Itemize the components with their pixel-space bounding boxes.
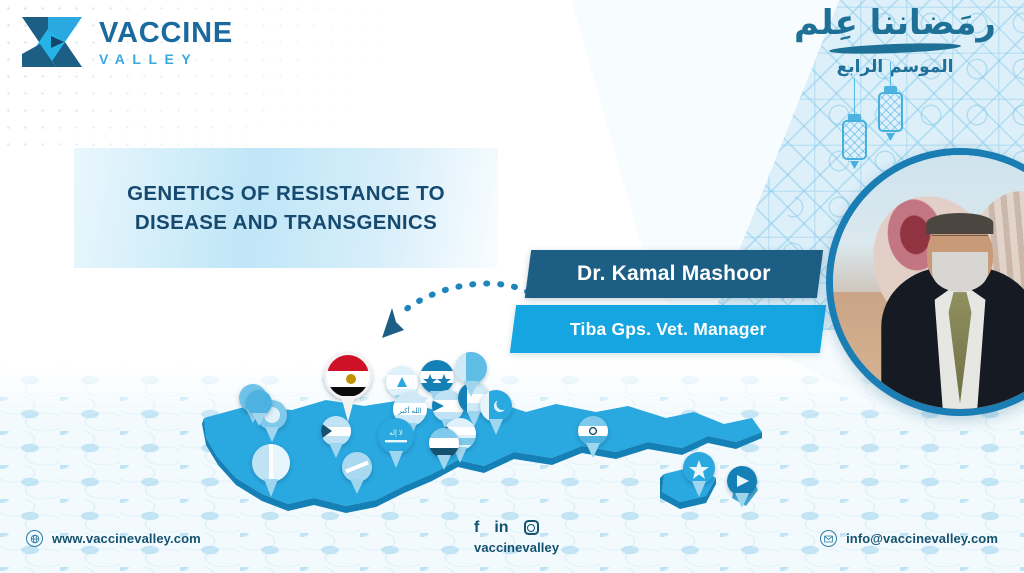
brush-underline xyxy=(829,41,961,55)
social-handle: vaccinevalley xyxy=(474,540,559,555)
vietnam-flag-icon xyxy=(683,452,715,484)
brand-logo[interactable]: VACCINE VALLEY xyxy=(18,14,233,70)
globe-icon xyxy=(26,530,43,547)
pakistan-flag-icon xyxy=(480,390,512,422)
session-title-box: GENETICS OF RESISTANCE TO DISEASE AND TR… xyxy=(74,148,498,268)
website-url: www.vaccinevalley.com xyxy=(52,531,201,546)
speaker-role-banner: Tiba Gps. Vet. Manager xyxy=(510,305,826,353)
footer-social: f in vaccinevalley xyxy=(474,518,559,555)
brand-name-main: VACCINE xyxy=(99,19,233,48)
speaker-name-banner: Dr. Kamal Mashoor xyxy=(525,250,823,298)
ramadan-lantern-icon-right xyxy=(878,62,903,141)
instagram-icon[interactable] xyxy=(524,520,539,535)
facebook-icon[interactable]: f xyxy=(474,520,479,536)
svg-text:لا إله: لا إله xyxy=(389,430,403,437)
footer-email[interactable]: info@vaccinevalley.com xyxy=(820,530,998,547)
ramadan-headline-arabic: رمَضاننا عِلم xyxy=(790,6,1000,42)
speaker-name: Dr. Kamal Mashoor xyxy=(577,262,771,286)
svg-text:الله أكبر: الله أكبر xyxy=(397,406,421,415)
envelope-icon xyxy=(820,530,837,547)
indonesia-flag-icon xyxy=(727,466,757,496)
speaker-photo-ring xyxy=(826,148,1024,416)
social-icon-row: f in xyxy=(474,518,559,537)
speaker-portrait xyxy=(833,155,1024,409)
syria-flag-icon xyxy=(420,360,454,394)
brand-name-sub: VALLEY xyxy=(99,52,233,66)
linkedin-icon[interactable]: in xyxy=(494,520,508,536)
footer-website[interactable]: www.vaccinevalley.com xyxy=(26,530,201,547)
algeria-flag-icon xyxy=(252,444,290,482)
session-title: GENETICS OF RESISTANCE TO DISEASE AND TR… xyxy=(100,179,472,237)
yemen-flag-icon xyxy=(429,428,459,458)
brand-wordmark: VACCINE VALLEY xyxy=(99,19,233,66)
saudi-arabia-flag-icon: لا إله xyxy=(378,418,414,454)
webinar-banner: VACCINE VALLEY رمَضاننا عِلم الموسم الرا… xyxy=(0,0,1024,573)
qatar-flag-icon xyxy=(455,352,487,384)
libya-flag-icon xyxy=(342,452,372,482)
sudan-flag-icon xyxy=(321,416,351,446)
india-flag-icon xyxy=(578,416,608,446)
email-address: info@vaccinevalley.com xyxy=(846,531,998,546)
vaccine-valley-x-mark-icon xyxy=(18,14,86,70)
speaker-role: Tiba Gps. Vet. Manager xyxy=(570,319,767,340)
